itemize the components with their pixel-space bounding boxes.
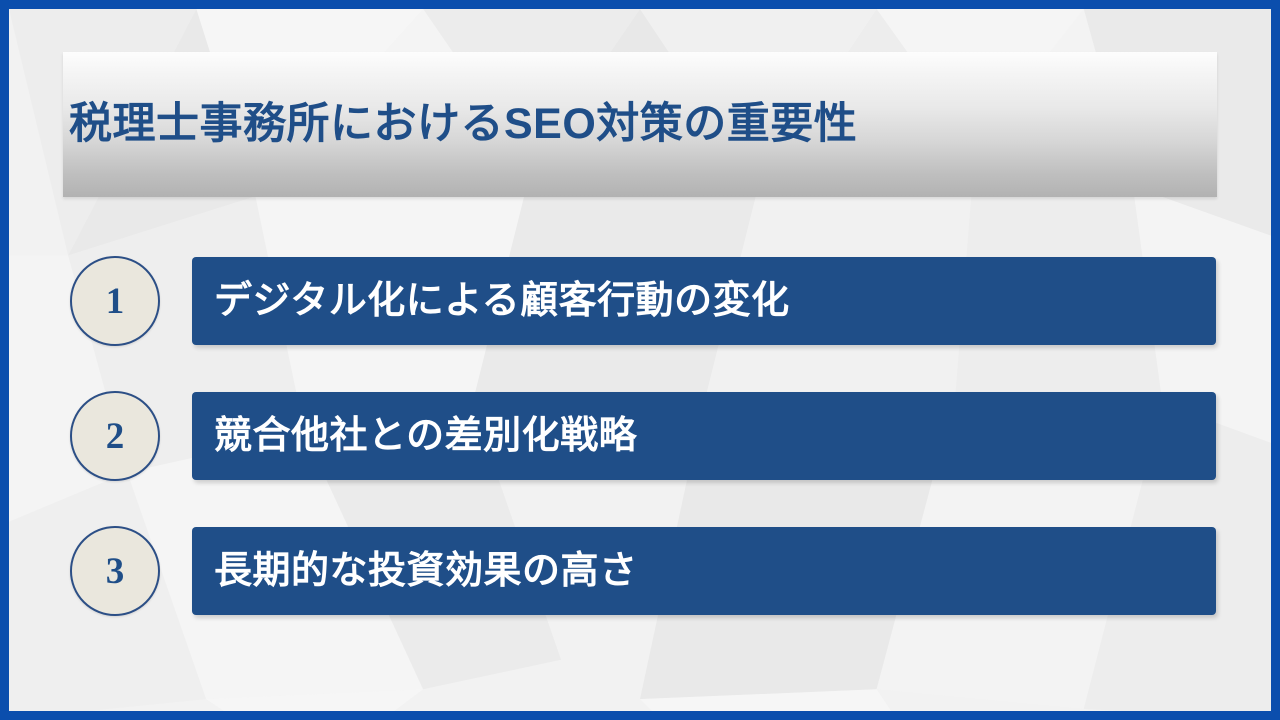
list-item[interactable]: 3 長期的な投資効果の高さ xyxy=(9,527,1271,615)
title-banner: 税理士事務所におけるSEO対策の重要性 xyxy=(63,52,1217,197)
numbered-list: 1 デジタル化による顧客行動の変化 2 競合他社との差別化戦略 3 長期的な投資… xyxy=(9,257,1271,615)
item-label: 競合他社との差別化戦略 xyxy=(214,417,637,455)
list-item[interactable]: 2 競合他社との差別化戦略 xyxy=(9,392,1271,480)
list-item[interactable]: 1 デジタル化による顧客行動の変化 xyxy=(9,257,1271,345)
item-number-badge: 3 xyxy=(70,526,160,616)
item-label: デジタル化による顧客行動の変化 xyxy=(214,282,790,320)
slide-canvas: 税理士事務所におけるSEO対策の重要性 1 デジタル化による顧客行動の変化 2 … xyxy=(0,0,1280,720)
item-bar[interactable]: 競合他社との差別化戦略 xyxy=(192,392,1216,480)
item-number-badge: 1 xyxy=(70,256,160,346)
item-bar[interactable]: デジタル化による顧客行動の変化 xyxy=(192,257,1216,345)
item-bar[interactable]: 長期的な投資効果の高さ xyxy=(192,527,1216,615)
page-title: 税理士事務所におけるSEO対策の重要性 xyxy=(69,103,857,146)
item-number-badge: 2 xyxy=(70,391,160,481)
item-label: 長期的な投資効果の高さ xyxy=(214,552,638,590)
